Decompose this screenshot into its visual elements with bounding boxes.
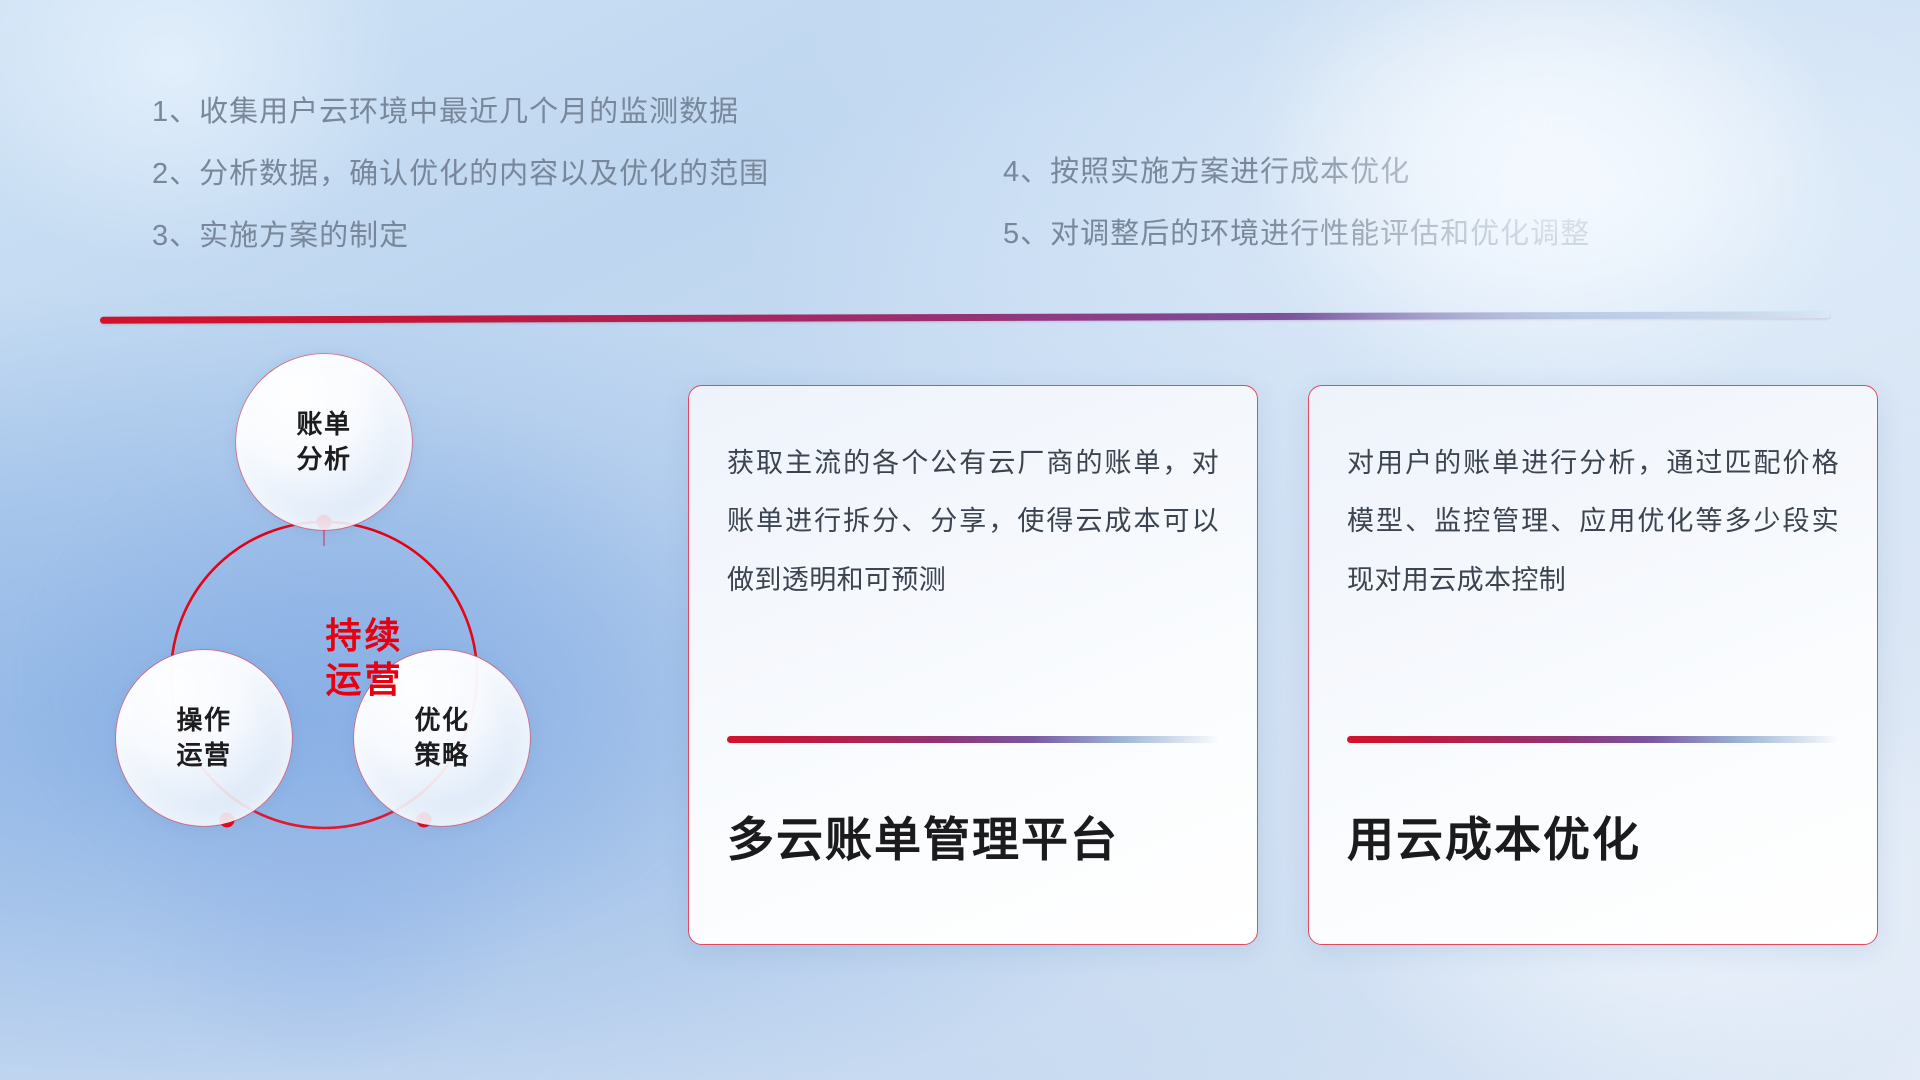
section-divider-line: [100, 311, 1830, 323]
venn-circle-bill-analysis[interactable]: 账单 分析: [236, 354, 412, 530]
card-multi-cloud-billing[interactable]: 获取主流的各个公有云厂商的账单，对账单进行拆分、分享，使得云成本可以做到透明和可…: [688, 385, 1258, 945]
venn-circle-optimization-strategy-label: 优化 策略: [414, 703, 469, 773]
process-step-3: 3、实施方案的制定: [152, 222, 769, 251]
process-step-1: 1、收集用户云环境中最近几个月的监测数据: [152, 98, 769, 127]
process-steps-left-column: 1、收集用户云环境中最近几个月的监测数据 2、分析数据，确认优化的内容以及优化的…: [152, 98, 769, 284]
venn-circle-operations-label: 操作 运营: [176, 703, 231, 773]
card-cloud-cost-optimization-title: 用云成本优化: [1347, 743, 1839, 944]
continuous-operation-venn-diagram: 账单 分析 操作 运营 优化 策略 持续 运营: [96, 350, 636, 940]
venn-circle-bill-analysis-label: 账单 分析: [296, 407, 351, 477]
process-steps-right-column: 4、按照实施方案进行成本优化 5、对调整后的环境进行性能评估和优化调整: [1003, 158, 1590, 282]
venn-circle-operations[interactable]: 操作 运营: [116, 650, 292, 826]
card-multi-cloud-billing-title: 多云账单管理平台: [727, 743, 1219, 944]
slide-canvas: 1、收集用户云环境中最近几个月的监测数据 2、分析数据，确认优化的内容以及优化的…: [0, 0, 1920, 1080]
process-step-2: 2、分析数据，确认优化的内容以及优化的范围: [152, 160, 769, 189]
process-step-4: 4、按照实施方案进行成本优化: [1003, 158, 1590, 187]
card-multi-cloud-billing-rule: [727, 736, 1219, 743]
card-cloud-cost-optimization-body: 对用户的账单进行分析，通过匹配价格模型、监控管理、应用优化等多少段实现对用云成本…: [1347, 434, 1839, 609]
card-multi-cloud-billing-body: 获取主流的各个公有云厂商的账单，对账单进行拆分、分享，使得云成本可以做到透明和可…: [727, 434, 1219, 609]
card-cloud-cost-optimization-rule: [1347, 736, 1839, 743]
background-glow-top-right: [1114, 0, 1920, 432]
process-step-5: 5、对调整后的环境进行性能评估和优化调整: [1003, 220, 1590, 249]
card-cloud-cost-optimization[interactable]: 对用户的账单进行分析，通过匹配价格模型、监控管理、应用优化等多少段实现对用云成本…: [1308, 385, 1878, 945]
venn-circle-optimization-strategy[interactable]: 优化 策略: [354, 650, 530, 826]
